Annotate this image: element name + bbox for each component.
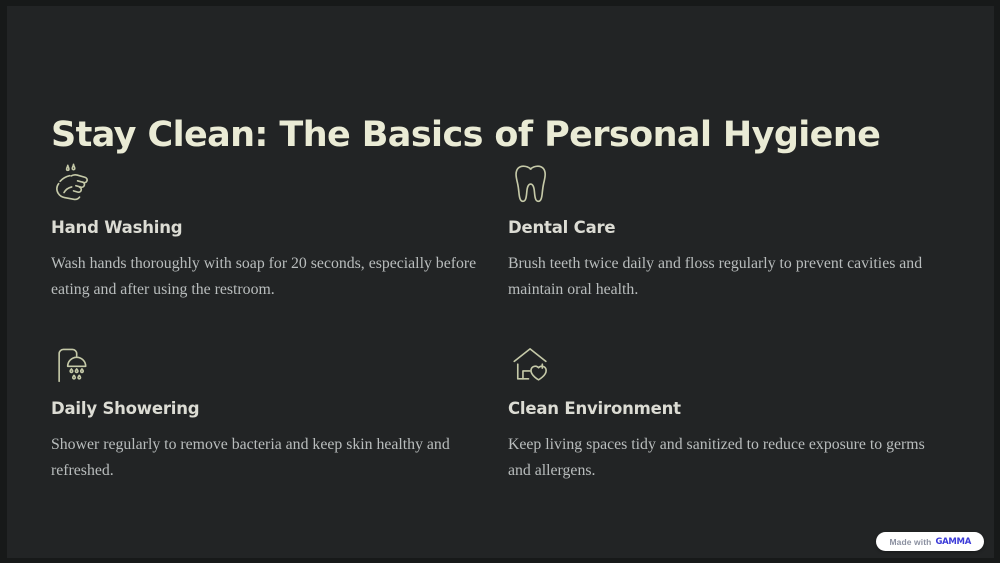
card-body: Wash hands thoroughly with soap for 20 s… <box>51 251 481 303</box>
hand-washing-icon <box>51 160 508 206</box>
slide-edge-left <box>0 0 7 563</box>
slide-edge-top <box>0 0 1000 6</box>
tooth-icon <box>508 160 949 206</box>
slide-canvas: Stay Clean: The Basics of Personal Hygie… <box>0 0 1000 563</box>
badge-brand-label: GAMMA <box>935 537 971 547</box>
card-heading: Daily Showering <box>51 399 508 418</box>
feature-card-grid: Hand Washing Wash hands thoroughly with … <box>51 160 949 484</box>
badge-prefix-label: Made with <box>889 537 931 547</box>
feature-card-dental-care: Dental Care Brush teeth twice daily and … <box>508 160 949 303</box>
card-heading: Clean Environment <box>508 399 949 418</box>
slide-edge-bottom <box>0 558 1000 563</box>
feature-card-daily-showering: Daily Showering Shower regularly to remo… <box>51 341 508 484</box>
card-heading: Hand Washing <box>51 218 508 237</box>
page-title: Stay Clean: The Basics of Personal Hygie… <box>51 115 880 155</box>
card-body: Keep living spaces tidy and sanitized to… <box>508 432 938 484</box>
card-heading: Dental Care <box>508 218 949 237</box>
feature-card-hand-washing: Hand Washing Wash hands thoroughly with … <box>51 160 508 303</box>
card-body: Shower regularly to remove bacteria and … <box>51 432 481 484</box>
feature-card-clean-environment: Clean Environment Keep living spaces tid… <box>508 341 949 484</box>
made-with-gamma-badge[interactable]: Made with GAMMA <box>876 532 984 551</box>
card-body: Brush teeth twice daily and floss regula… <box>508 251 938 303</box>
slide-edge-right <box>994 0 1000 563</box>
shower-icon <box>51 341 508 387</box>
house-heart-icon <box>508 341 949 387</box>
